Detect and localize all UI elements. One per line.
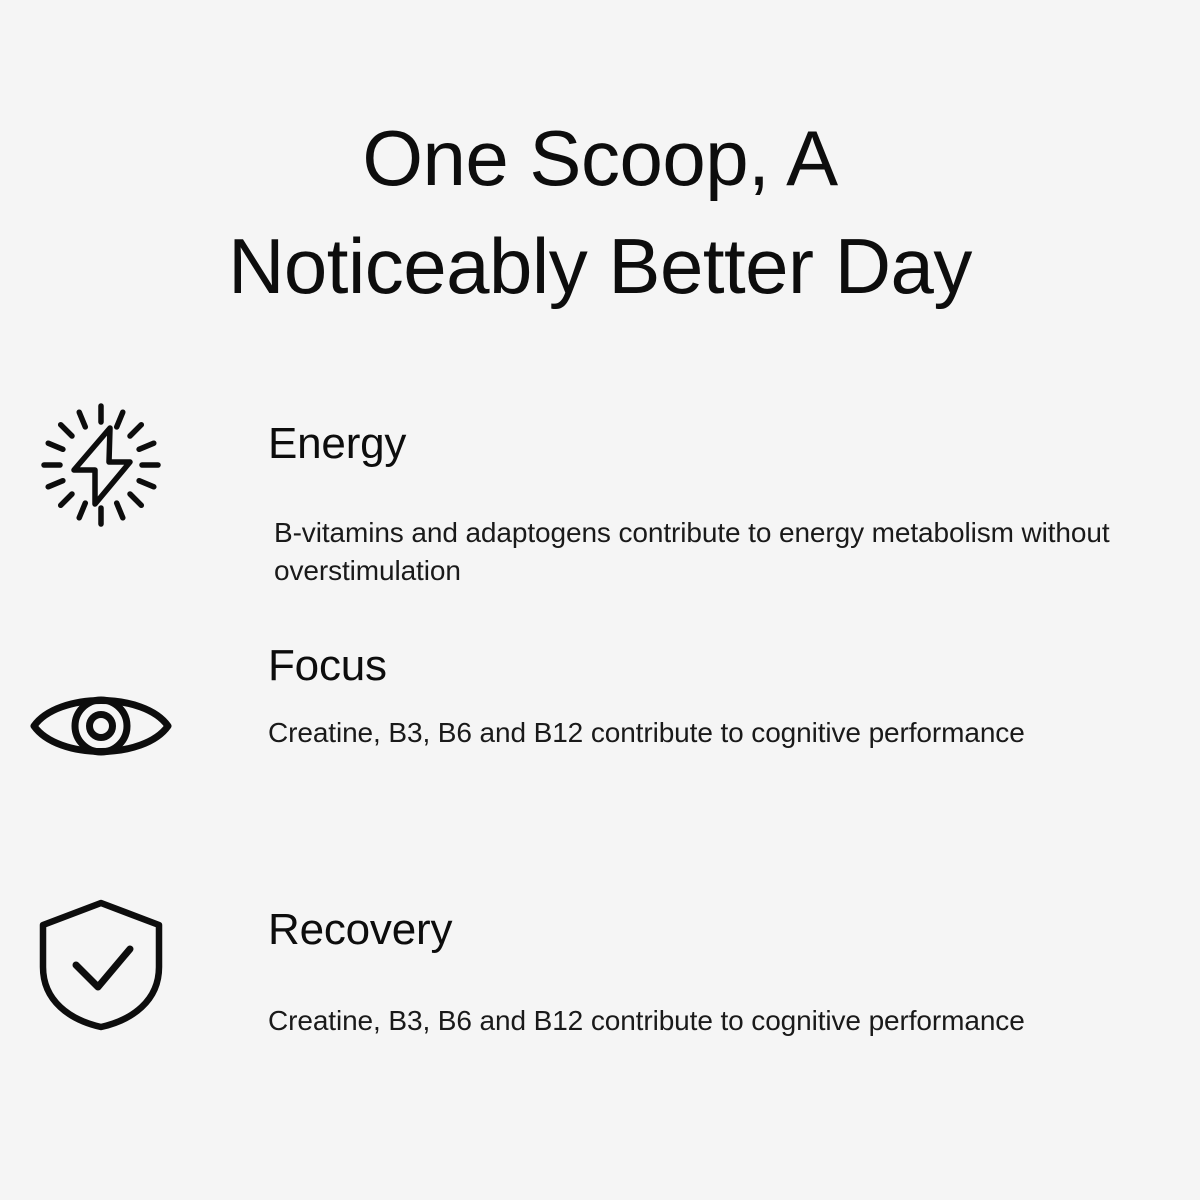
page-title-line-1: One Scoop, A [0,104,1200,212]
benefit-text-focus: Focus Creatine, B3, B6 and B12 contribut… [268,640,1180,752]
page-title: One Scoop, A Noticeably Better Day [0,104,1200,320]
benefit-title: Energy [268,418,1180,470]
benefit-description: Creatine, B3, B6 and B12 contribute to c… [268,714,1180,752]
energy-bolt-icon [26,400,176,530]
benefit-description: B-vitamins and adaptogens contribute to … [268,514,1180,590]
benefit-description: Creatine, B3, B6 and B12 contribute to c… [268,1002,1180,1040]
page-title-line-2: Noticeably Better Day [0,212,1200,320]
shield-check-icon [26,897,176,1033]
benefit-title: Focus [268,640,1180,692]
benefit-text-recovery: Recovery Creatine, B3, B6 and B12 contri… [268,904,1180,1040]
eye-icon [26,684,176,768]
benefit-title: Recovery [268,904,1180,956]
product-benefits-panel: One Scoop, A Noticeably Better Day [0,0,1200,1200]
benefit-text-energy: Energy B-vitamins and adaptogens contrib… [268,418,1180,590]
